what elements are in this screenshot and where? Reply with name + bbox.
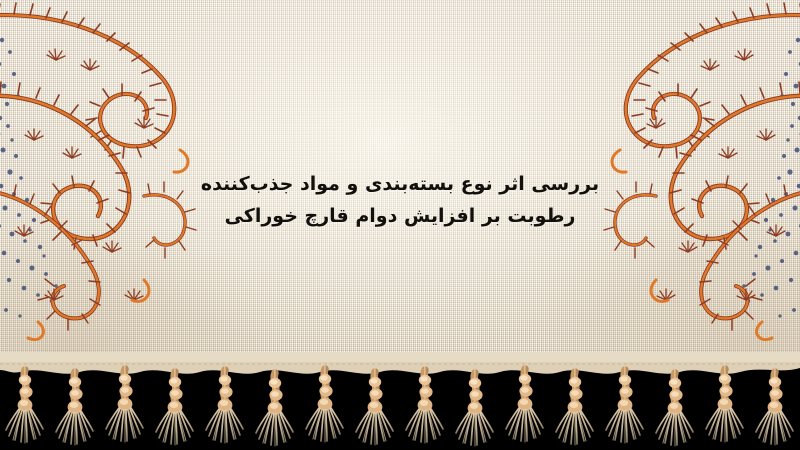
title-line-2: رطوبت بر افزایش دوام قارچ خوراکی <box>185 200 615 232</box>
tassel-fringe <box>0 352 800 450</box>
slide-canvas: بررسی اثر نوع بسته‌بندی و مواد جذب‌کننده… <box>0 0 800 450</box>
title-line-1: بررسی اثر نوع بسته‌بندی و مواد جذب‌کننده <box>185 168 615 200</box>
slide-title: بررسی اثر نوع بسته‌بندی و مواد جذب‌کننده… <box>185 168 615 232</box>
